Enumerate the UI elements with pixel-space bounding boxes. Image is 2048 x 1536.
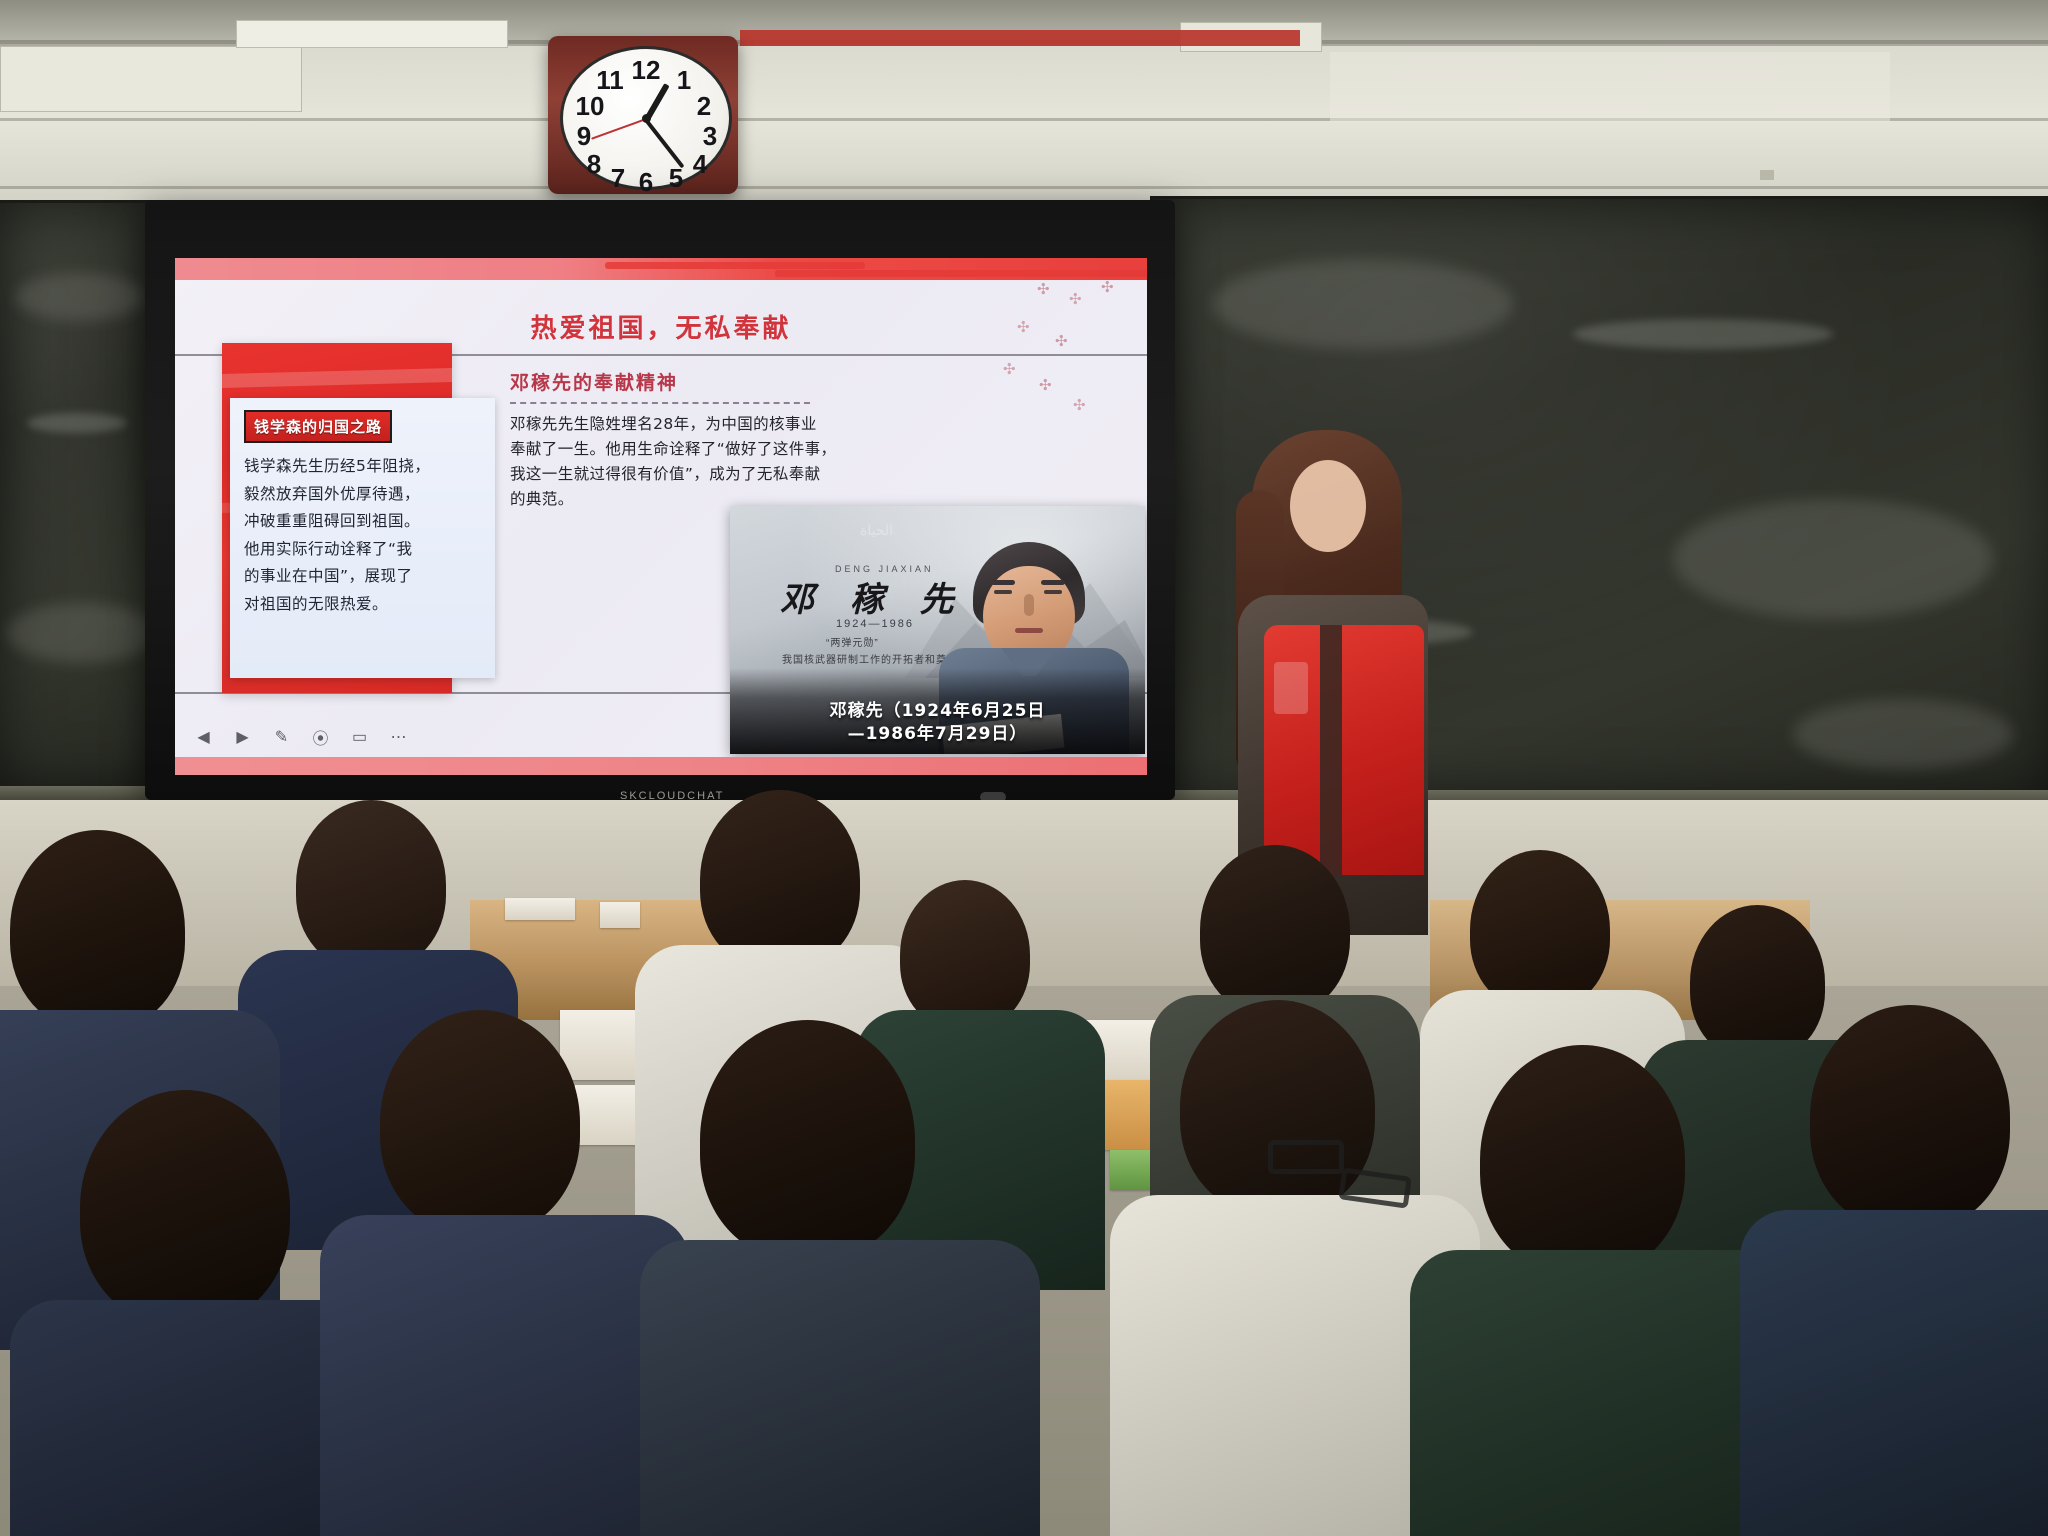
deng-jiaxian-heading: 邓稼先的奉献精神 — [510, 368, 980, 395]
wall-panel — [236, 20, 508, 48]
student-head — [1480, 1045, 1685, 1275]
paper-stack — [505, 898, 575, 920]
body-line: 他用实际行动诠释了“我 — [244, 536, 481, 564]
body-line: 冲破重重阻碍回到祖国。 — [244, 508, 481, 536]
vest-logo — [1274, 662, 1308, 714]
student-head — [700, 1020, 915, 1260]
body-line: 奉献了一生。他用生命诠释了“做好了这件事， — [510, 437, 980, 462]
clock-number: 5 — [659, 163, 693, 194]
deng-jiaxian-photo: الحياة DENG JIAXIAN 邓 稼 先 1924—1986 “两弹元… — [730, 506, 1145, 754]
teacher-face — [1290, 460, 1366, 552]
deng-jiaxian-column: 邓稼先的奉献精神 邓稼先先生隐姓埋名28年，为中国的核事业 奉献了一生。他用生命… — [510, 368, 980, 512]
qian-xuesen-textbox: 钱学森的归国之路 钱学森先生历经5年阻挠， 毅然放弃国外优厚待遇， 冲破重重阻碍… — [230, 398, 495, 678]
qian-xuesen-body: 钱学森先生历经5年阻挠， 毅然放弃国外优厚待遇， 冲破重重阻碍回到祖国。 他用实… — [244, 453, 481, 618]
wall-panel — [0, 46, 302, 112]
paper-stack — [600, 902, 640, 928]
dashed-divider — [510, 402, 810, 404]
slide-bottom-band — [175, 757, 1147, 775]
whiteboard-icon[interactable]: ▭ — [349, 726, 370, 747]
photo-arabic-mark: الحياة — [860, 522, 893, 539]
student-head — [700, 790, 860, 970]
student-head — [380, 1010, 580, 1235]
slide: 热爱祖国，无私奉献 ✣ ✣ ✣ ✣ ✣ ✣ ✣ ✣ — [175, 258, 1147, 775]
student-head — [1200, 845, 1350, 1015]
student-torso — [1740, 1210, 2048, 1536]
student-torso — [320, 1215, 690, 1536]
photo-honor: “两弹元勋” — [826, 634, 879, 649]
clock-minute-hand — [644, 119, 684, 169]
previous-slide-icon[interactable]: ◀ — [193, 726, 214, 747]
student-head — [10, 830, 185, 1030]
body-line: 对祖国的无限热爱。 — [244, 591, 481, 619]
deng-jiaxian-body: 邓稼先先生隐姓埋名28年，为中国的核事业 奉献了一生。他用生命诠释了“做好了这件… — [510, 412, 980, 512]
student-head — [1810, 1005, 2010, 1230]
slide-toolbar[interactable]: ◀ ▶ ✎ ⦿ ▭ ⋯ — [193, 726, 409, 747]
student-torso — [640, 1240, 1040, 1536]
presentation-screen[interactable]: 热爱祖国，无私奉献 ✣ ✣ ✣ ✣ ✣ ✣ ✣ ✣ — [175, 258, 1147, 775]
wall-seam — [0, 186, 2048, 189]
more-options-icon[interactable]: ⋯ — [388, 726, 409, 747]
wall-panel — [1330, 52, 1890, 122]
clock-number: 11 — [593, 65, 627, 96]
screenshot-icon[interactable]: ⦿ — [310, 726, 331, 747]
classroom-scene: 12 1 2 3 4 5 6 7 8 9 10 11 — [0, 0, 2048, 1536]
slide-top-band — [175, 258, 1147, 280]
student-head — [900, 880, 1030, 1030]
body-line: 钱学森先生历经5年阻挠， — [244, 453, 481, 481]
photo-caption: 邓稼先（1924年6月25日 —1986年7月29日） — [730, 700, 1145, 746]
clock-number: 8 — [577, 149, 611, 180]
glasses-icon — [1268, 1140, 1344, 1174]
clock-face: 12 1 2 3 4 5 6 7 8 9 10 11 — [560, 46, 732, 190]
body-line: 我这一生就过得很有价值”，成为了无私奉献 — [510, 462, 980, 487]
wall-clock: 12 1 2 3 4 5 6 7 8 9 10 11 — [548, 36, 738, 194]
wall-mark — [1760, 170, 1774, 180]
body-line: 邓稼先先生隐姓埋名28年，为中国的核事业 — [510, 412, 980, 437]
student-head — [1470, 850, 1610, 1010]
caption-line: —1986年7月29日） — [730, 723, 1145, 746]
caption-line: 邓稼先（1924年6月25日 — [730, 700, 1145, 723]
photo-years: 1924—1986 — [836, 618, 914, 630]
body-line: 毅然放弃国外优厚待遇， — [244, 481, 481, 509]
clock-hub — [642, 114, 651, 123]
qian-xuesen-heading: 钱学森的归国之路 — [244, 410, 392, 443]
student-head — [80, 1090, 290, 1325]
wall-banner — [740, 30, 1300, 46]
play-slide-icon[interactable]: ▶ — [232, 726, 253, 747]
clock-number: 12 — [629, 55, 663, 86]
clock-number: 3 — [693, 121, 727, 152]
body-line: 的事业在中国”，展现了 — [244, 563, 481, 591]
pen-icon[interactable]: ✎ — [271, 726, 292, 747]
slide-title: 热爱祖国，无私奉献 — [175, 308, 1147, 345]
student-head — [1690, 905, 1825, 1060]
clock-number: 2 — [687, 91, 721, 122]
student-head — [296, 800, 446, 970]
